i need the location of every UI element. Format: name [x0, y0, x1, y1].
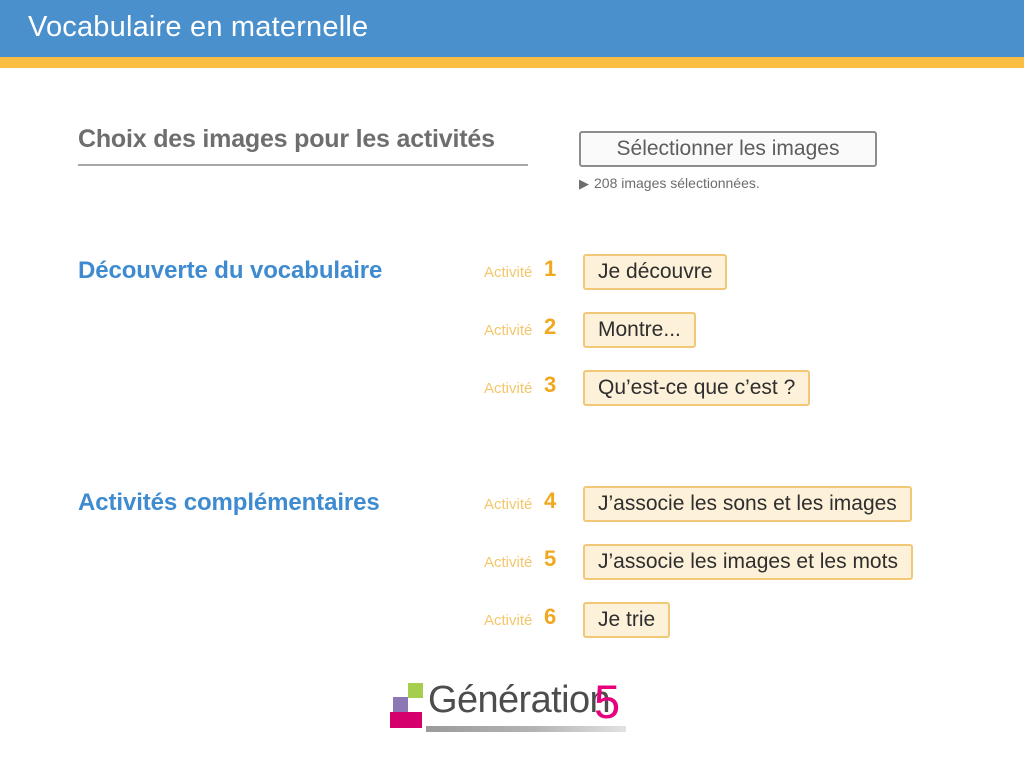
logo-purple-square-icon: [393, 697, 408, 712]
activity-number: 2: [544, 314, 556, 340]
image-choice-section: Choix des images pour les activités Séle…: [0, 118, 1024, 208]
logo-number: 5: [594, 674, 620, 729]
activity-button-2[interactable]: Montre...: [583, 312, 696, 348]
activity-number: 3: [544, 372, 556, 398]
activity-label: Activité: [484, 496, 532, 513]
selection-status: ▶208 images sélectionnées.: [579, 175, 760, 192]
activity-row: Activité 6 Je trie: [484, 598, 1024, 656]
activity-rows-decouverte: Activité 1 Je découvre Activité 2 Montre…: [484, 250, 1024, 424]
logo-wordmark: Génération: [428, 679, 610, 722]
activity-label: Activité: [484, 380, 532, 397]
activity-row: Activité 5 J’associe les images et les m…: [484, 540, 1024, 598]
activity-number: 5: [544, 546, 556, 572]
activity-button-5[interactable]: J’associe les images et les mots: [583, 544, 913, 580]
activity-row: Activité 2 Montre...: [484, 308, 1024, 366]
activity-row: Activité 3 Qu’est-ce que c’est ?: [484, 366, 1024, 424]
activity-button-1[interactable]: Je découvre: [583, 254, 727, 290]
activity-number: 6: [544, 604, 556, 630]
logo-magenta-rect-icon: [390, 712, 422, 728]
activity-button-6[interactable]: Je trie: [583, 602, 670, 638]
header-accent-bar: [0, 57, 1024, 68]
activity-label: Activité: [484, 554, 532, 571]
activity-button-4[interactable]: J’associe les sons et les images: [583, 486, 912, 522]
group-heading-decouverte: Découverte du vocabulaire: [78, 257, 382, 285]
logo-green-square-icon: [408, 683, 423, 698]
activity-number: 4: [544, 488, 556, 514]
group-heading-complementaires: Activités complémentaires: [78, 489, 380, 517]
activity-button-3[interactable]: Qu’est-ce que c’est ?: [583, 370, 810, 406]
activity-label: Activité: [484, 322, 532, 339]
select-images-button[interactable]: Sélectionner les images: [579, 131, 877, 167]
selection-status-text: 208 images sélectionnées.: [594, 175, 760, 191]
activity-row: Activité 4 J’associe les sons et les ima…: [484, 482, 1024, 540]
page-title: Vocabulaire en maternelle: [28, 11, 368, 44]
generation5-logo: Génération 5: [386, 678, 638, 734]
activity-rows-complementaires: Activité 4 J’associe les sons et les ima…: [484, 482, 1024, 656]
activity-label: Activité: [484, 612, 532, 629]
activity-label: Activité: [484, 264, 532, 281]
activity-row: Activité 1 Je découvre: [484, 250, 1024, 308]
activity-number: 1: [544, 256, 556, 282]
play-triangle-icon: ▶: [579, 176, 589, 192]
logo-underline-bar: [426, 726, 626, 732]
app-header: Vocabulaire en maternelle: [0, 0, 1024, 57]
image-choice-heading: Choix des images pour les activités: [78, 125, 528, 166]
